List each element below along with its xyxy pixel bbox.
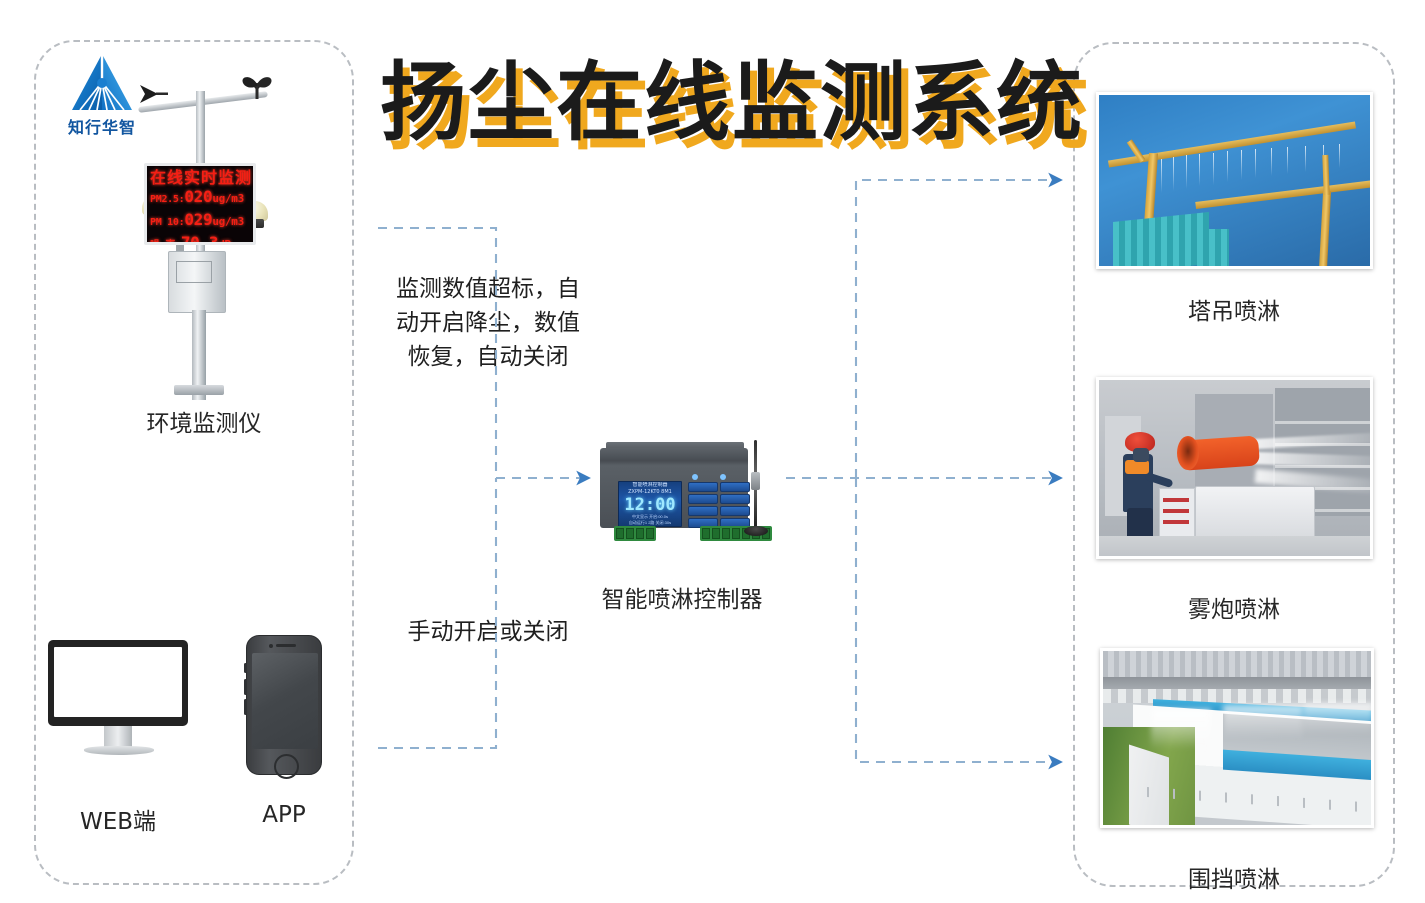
wire-controller-to-crane	[856, 180, 1060, 478]
wire-station-to-controller	[378, 228, 588, 478]
wire-clients-to-controller	[378, 478, 496, 748]
wire-controller-to-fence	[856, 478, 1060, 762]
connector-wires	[0, 0, 1425, 903]
diagram-canvas: 扬尘在线监测系统 知行华智	[0, 0, 1425, 903]
